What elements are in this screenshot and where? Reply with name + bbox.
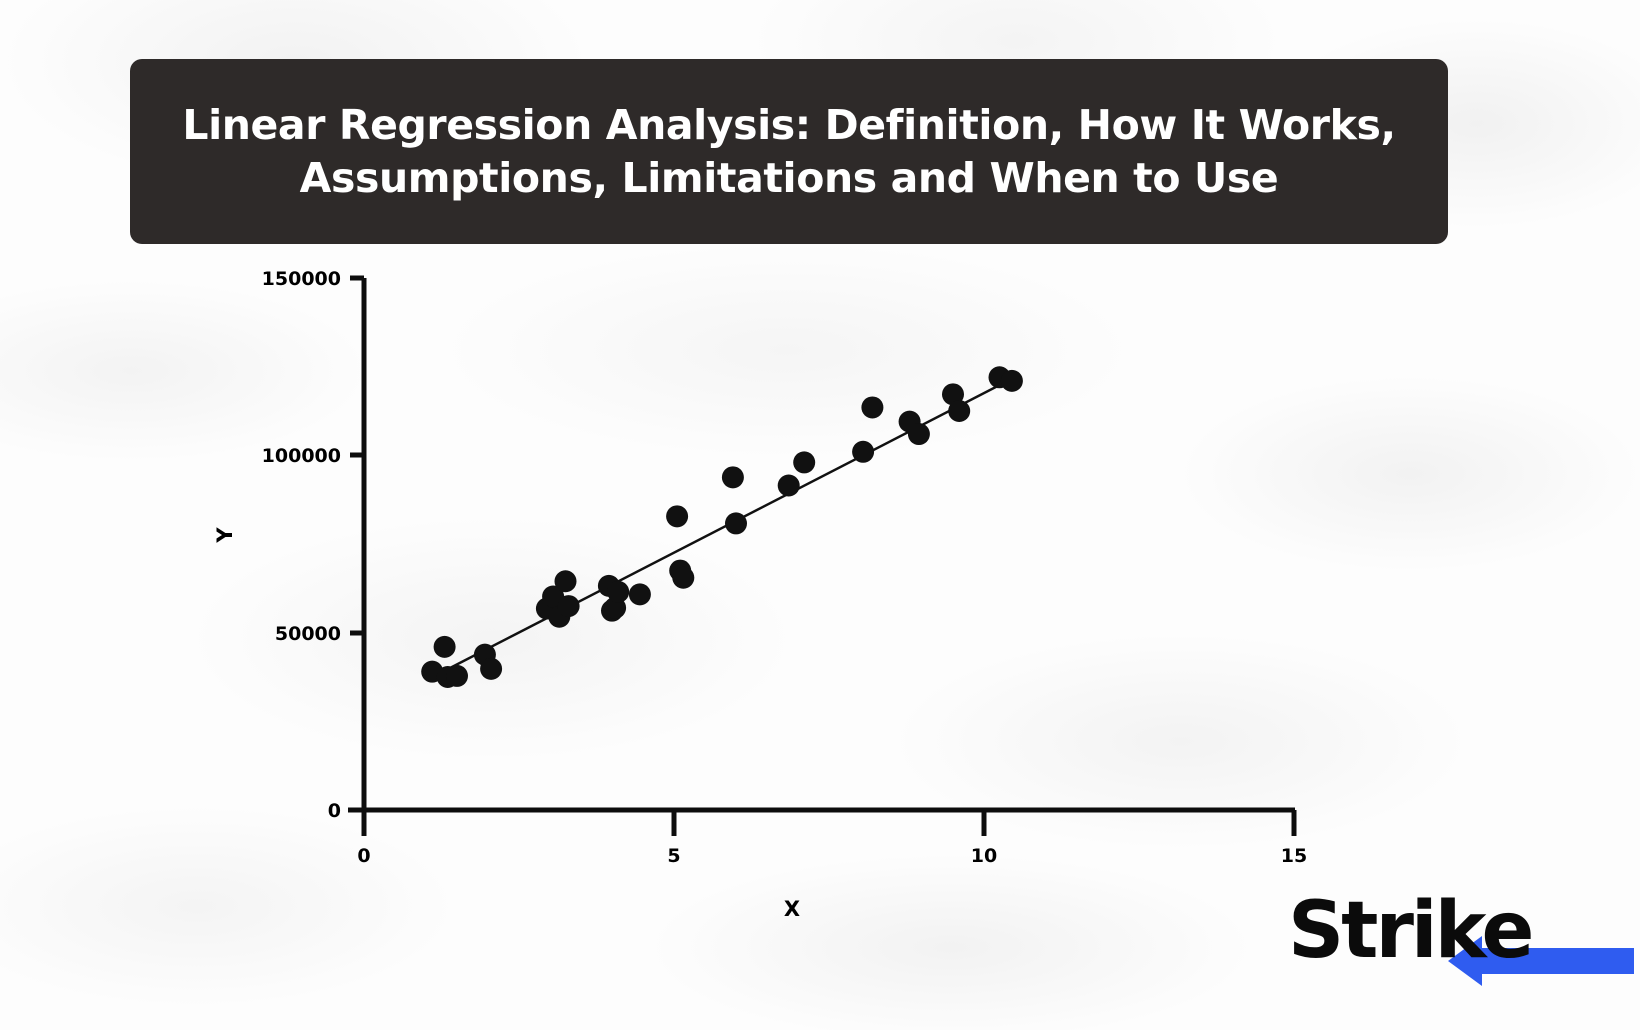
x-tick-label-0: 0 bbox=[357, 845, 370, 867]
scatter-point bbox=[607, 581, 629, 603]
scatter-point bbox=[480, 658, 502, 680]
scatter-point bbox=[666, 505, 688, 527]
scatter-point bbox=[558, 595, 580, 617]
strike-logo[interactable]: Strike bbox=[1288, 880, 1640, 988]
scatter-point bbox=[629, 583, 651, 605]
scatter-chart: 150000 100000 50000 0 0 5 10 15 Y X bbox=[0, 244, 1640, 944]
regression-line-path bbox=[429, 376, 1018, 679]
x-tick-label-15: 15 bbox=[1281, 845, 1307, 867]
x-tick-label-5: 5 bbox=[667, 845, 680, 867]
scatter-point bbox=[1001, 370, 1023, 392]
x-axis-ticks bbox=[364, 810, 1294, 836]
scatter-point bbox=[725, 512, 747, 534]
scatter-point bbox=[672, 567, 694, 589]
y-tick-label-0: 0 bbox=[328, 800, 341, 822]
page-title: Linear Regression Analysis: Definition, … bbox=[182, 99, 1395, 203]
scatter-point bbox=[852, 441, 874, 463]
x-axis-title: X bbox=[784, 897, 800, 921]
scatter-point bbox=[446, 665, 468, 687]
scatter-point bbox=[778, 474, 800, 496]
scatter-point bbox=[908, 423, 930, 445]
y-tick-label-50000: 50000 bbox=[275, 623, 341, 645]
y-tick-label-100000: 100000 bbox=[262, 445, 341, 467]
strike-wordmark: Strike bbox=[1288, 886, 1531, 976]
page-title-line-2: Assumptions, Limitations and When to Use bbox=[300, 154, 1279, 202]
scatter-point bbox=[861, 396, 883, 418]
scatter-point bbox=[434, 636, 456, 658]
y-tick-label-150000: 150000 bbox=[262, 268, 341, 290]
y-axis-title: Y bbox=[213, 527, 237, 544]
scatter-point bbox=[948, 400, 970, 422]
page-title-line-1: Linear Regression Analysis: Definition, … bbox=[182, 101, 1395, 149]
scatter-point bbox=[555, 570, 577, 592]
x-tick-label-10: 10 bbox=[971, 845, 997, 867]
regression-line bbox=[429, 376, 1018, 679]
chart-svg: 150000 100000 50000 0 0 5 10 15 Y X bbox=[0, 244, 1640, 944]
scatter-point bbox=[793, 451, 815, 473]
title-banner: Linear Regression Analysis: Definition, … bbox=[130, 59, 1448, 244]
scatter-point bbox=[722, 466, 744, 488]
